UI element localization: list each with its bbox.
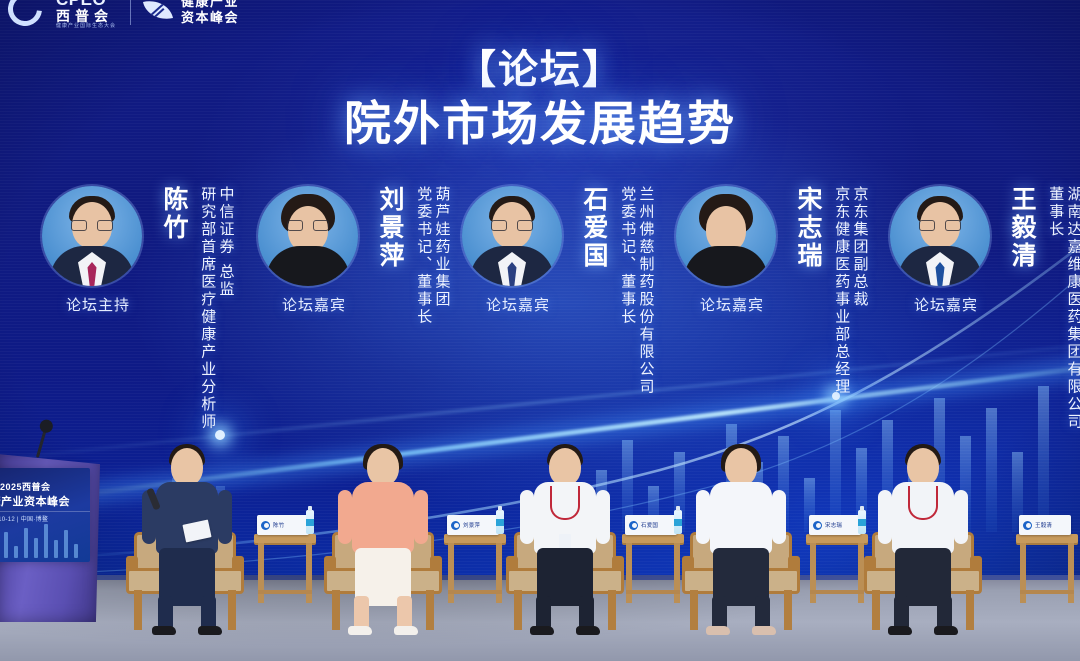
panelist-card: 论坛嘉宾 石爱国 兰州佛慈制药股份有限公司 党委书记、董事长: [462, 186, 655, 396]
avatar: [890, 186, 990, 286]
leaf-icon: [143, 0, 173, 23]
secondary-logo-line2: 资本峰会: [181, 10, 239, 26]
panelist-card: 论坛嘉宾 宋志瑞 京东集团副总裁 京东健康医药事业部总经理: [676, 186, 869, 396]
panelist-title: 兰州佛慈制药股份有限公司 党委书记、董事长: [619, 186, 655, 396]
panelist-title-line: 京东健康医药事业部总经理: [833, 186, 850, 396]
panelist-title-line: 党委书记、董事长: [415, 186, 432, 326]
avatar: [258, 186, 358, 286]
secondary-logo-line1: 健康产业: [181, 0, 239, 10]
panelist-name: 石爱国: [576, 186, 612, 270]
avatar: [42, 186, 142, 286]
nameplate-logo-icon: [261, 521, 270, 530]
panelist-title-line: 研究部首席医疗健康产业分析师: [199, 186, 216, 431]
panelist-person: [522, 448, 608, 624]
lanyard: [908, 486, 938, 520]
panelist-role: 论坛嘉宾: [676, 294, 788, 315]
panelist-card: 论坛主持 陈竹 中信证券 总监 研究部首席医疗健康产业分析师: [42, 186, 235, 431]
lanyard: [550, 486, 580, 520]
water-bottle: [306, 510, 314, 534]
side-table: 刘景萍: [444, 534, 506, 612]
cpeo-logo-icon: [8, 0, 54, 30]
panelist-role: 论坛主持: [42, 294, 154, 315]
avatar: [462, 186, 562, 286]
forum-title-block: 【论坛】 院外市场发展趋势: [0, 45, 1080, 153]
badge: [559, 534, 571, 549]
nameplate-name: 陈竹: [273, 521, 284, 529]
panelist-role: 论坛嘉宾: [258, 294, 370, 315]
panelist-card-row: 论坛主持 陈竹 中信证券 总监 研究部首席医疗健康产业分析师 论坛嘉宾 刘景萍 …: [0, 186, 1080, 426]
panelist-person: [340, 448, 426, 624]
panel-seat: [858, 412, 1008, 630]
panelist-card: 论坛嘉宾 王毅清 湖南达嘉维康医药集团有限公司 董事长: [890, 186, 1080, 431]
panelist-name: 王毅清: [1004, 186, 1040, 270]
panelist-role: 论坛嘉宾: [890, 294, 1002, 315]
panelist-title: 中信证券 总监 研究部首席医疗健康产业分析师: [199, 186, 235, 431]
nameplate: 王毅清: [1019, 515, 1071, 535]
panelist-name: 宋志瑞: [790, 186, 826, 270]
panelist-name: 陈竹: [156, 186, 192, 242]
title-main: 院外市场发展趋势: [0, 97, 1080, 153]
nameplate: 石爱国: [625, 515, 677, 535]
panelist-title-line: 党委书记、董事长: [619, 186, 636, 396]
side-table: 石爱国: [622, 534, 684, 612]
nameplate-name: 石爱国: [641, 521, 658, 529]
panelist-title-line: 湖南达嘉维康医药集团有限公司: [1065, 186, 1080, 431]
panelist-title-line: 京东集团副总裁: [851, 186, 868, 396]
seated-panel-group: 陈竹: [0, 400, 1080, 630]
panelist-person: [880, 448, 966, 624]
backdrop-header-logos: CPEO 西普会 健康产业国际生态大会 健康产业 资本峰会: [0, 0, 1080, 34]
panelist-title-line: 中信证券 总监: [217, 186, 234, 431]
logo-subtitle-text: 健康产业国际生态大会: [56, 24, 116, 29]
logo-chinese-text: 西普会: [56, 8, 116, 24]
conference-stage-photo: CPEO 西普会 健康产业国际生态大会 健康产业 资本峰会 【论坛】 院外市场发…: [0, 0, 1080, 661]
nameplate: 刘景萍: [447, 515, 499, 535]
nameplate: 宋志瑞: [809, 515, 861, 535]
nameplate-logo-icon: [813, 521, 822, 530]
panelist-title-line: 葫芦娃药业集团: [433, 186, 450, 326]
panelist-title-line: 董事长: [1047, 186, 1064, 431]
panelist-card: 论坛嘉宾 刘景萍 葫芦娃药业集团 党委书记、董事长: [258, 186, 451, 326]
nameplate: 陈竹: [257, 515, 309, 535]
logo-latin-text: CPEO: [56, 0, 116, 8]
panel-seat: [676, 412, 826, 630]
nameplate-name: 刘景萍: [463, 521, 480, 529]
panelist-title: 葫芦娃药业集团 党委书记、董事长: [415, 186, 451, 326]
panelist-person: [698, 448, 784, 624]
nameplate-logo-icon: [1023, 521, 1032, 530]
panelist-name: 刘景萍: [372, 186, 408, 270]
side-table: 陈竹: [254, 534, 316, 612]
nameplate-logo-icon: [451, 521, 460, 530]
panelist-role: 论坛嘉宾: [462, 294, 574, 315]
logo-divider: [130, 0, 131, 25]
panel-seat: [118, 412, 268, 630]
nameplate-name: 宋志瑞: [825, 521, 842, 529]
panelist-person: [144, 448, 230, 624]
panelist-title: 湖南达嘉维康医药集团有限公司 董事长: [1047, 186, 1080, 431]
panelist-title: 京东集团副总裁 京东健康医药事业部总经理: [833, 186, 869, 396]
panelist-title-line: 兰州佛慈制药股份有限公司: [637, 186, 654, 396]
avatar: [676, 186, 776, 286]
nameplate-logo-icon: [629, 521, 638, 530]
nameplate-name: 王毅清: [1035, 521, 1052, 529]
title-bracketed: 【论坛】: [0, 45, 1080, 95]
side-table: 王毅清: [1016, 534, 1078, 612]
